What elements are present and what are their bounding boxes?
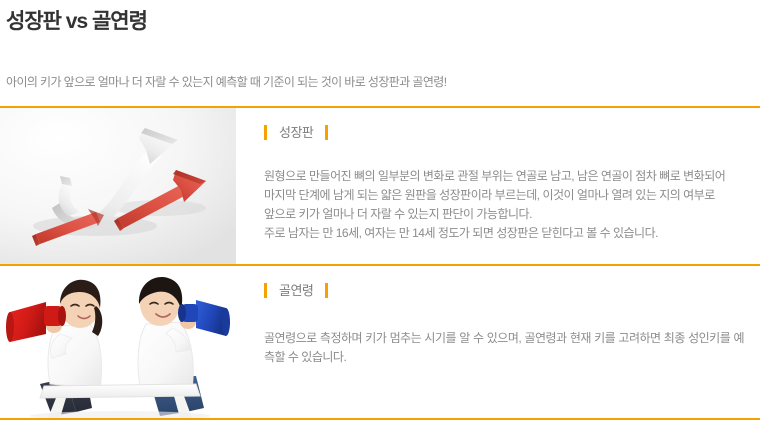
page-subtitle: 아이의 키가 앞으로 얼마나 더 자랄 수 있는지 예측할 때 기준이 되는 것… [6, 35, 760, 90]
section-heading-bone-age: 골연령 [264, 266, 756, 298]
accent-bar-right-icon [325, 125, 328, 140]
section-growth-plate: 성장판 원형으로 만들어진 뼈의 일부분의 변화로 관절 부위는 연골로 남고,… [0, 108, 760, 264]
growth-plate-body: 성장판 원형으로 만들어진 뼈의 일부분의 변화로 관절 부위는 연골로 남고,… [236, 108, 760, 243]
kids-photo-illustration [0, 266, 236, 418]
growth-plate-image [0, 108, 236, 264]
section-heading-label: 성장판 [267, 125, 325, 140]
section-heading-growth-plate: 성장판 [264, 108, 756, 140]
page-title: 성장판 vs 골연령 [6, 9, 760, 35]
kids-svg [0, 266, 236, 418]
bone-age-image [0, 266, 236, 418]
page-header: 성장판 vs 골연령 아이의 키가 앞으로 얼마나 더 자랄 수 있는지 예측할… [0, 0, 760, 90]
section-text-bone-age: 골연령으로 측정하며 키가 멈추는 시기를 알 수 있으며, 골연령과 현재 키… [264, 298, 756, 367]
section-heading-label: 골연령 [267, 283, 325, 298]
section-text-growth-plate: 원형으로 만들어진 뼈의 일부분의 변화로 관절 부위는 연골로 남고, 남은 … [264, 140, 756, 243]
bone-age-body: 골연령 골연령으로 측정하며 키가 멈추는 시기를 알 수 있으며, 골연령과 … [236, 266, 760, 367]
section-bone-age: 골연령 골연령으로 측정하며 키가 멈추는 시기를 알 수 있으며, 골연령과 … [0, 266, 760, 418]
divider-bottom [0, 418, 760, 420]
paper-arrows-illustration [0, 108, 236, 264]
accent-bar-right-icon [325, 283, 328, 298]
arrows-svg [0, 108, 236, 264]
